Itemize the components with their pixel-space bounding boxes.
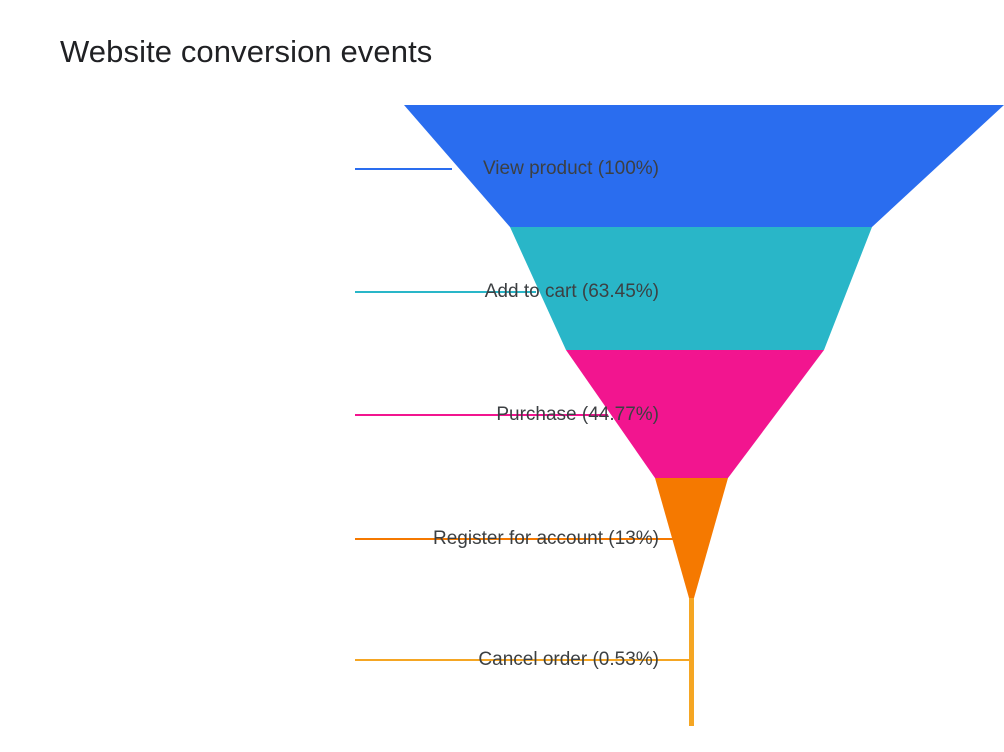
funnel-chart: Website conversion events View product (…	[0, 0, 1004, 752]
stage-label-add-to-cart: Add to cart (63.45%)	[485, 281, 659, 303]
stage-label-cancel-order: Cancel order (0.53%)	[478, 649, 659, 671]
funnel-band-cancel-order[interactable]	[689, 598, 694, 726]
stage-label-view-product: View product (100%)	[483, 158, 659, 180]
funnel-graphic	[0, 0, 1004, 752]
stage-label-register-for-account: Register for account (13%)	[433, 528, 659, 550]
stage-label-purchase: Purchase (44.77%)	[496, 404, 659, 426]
